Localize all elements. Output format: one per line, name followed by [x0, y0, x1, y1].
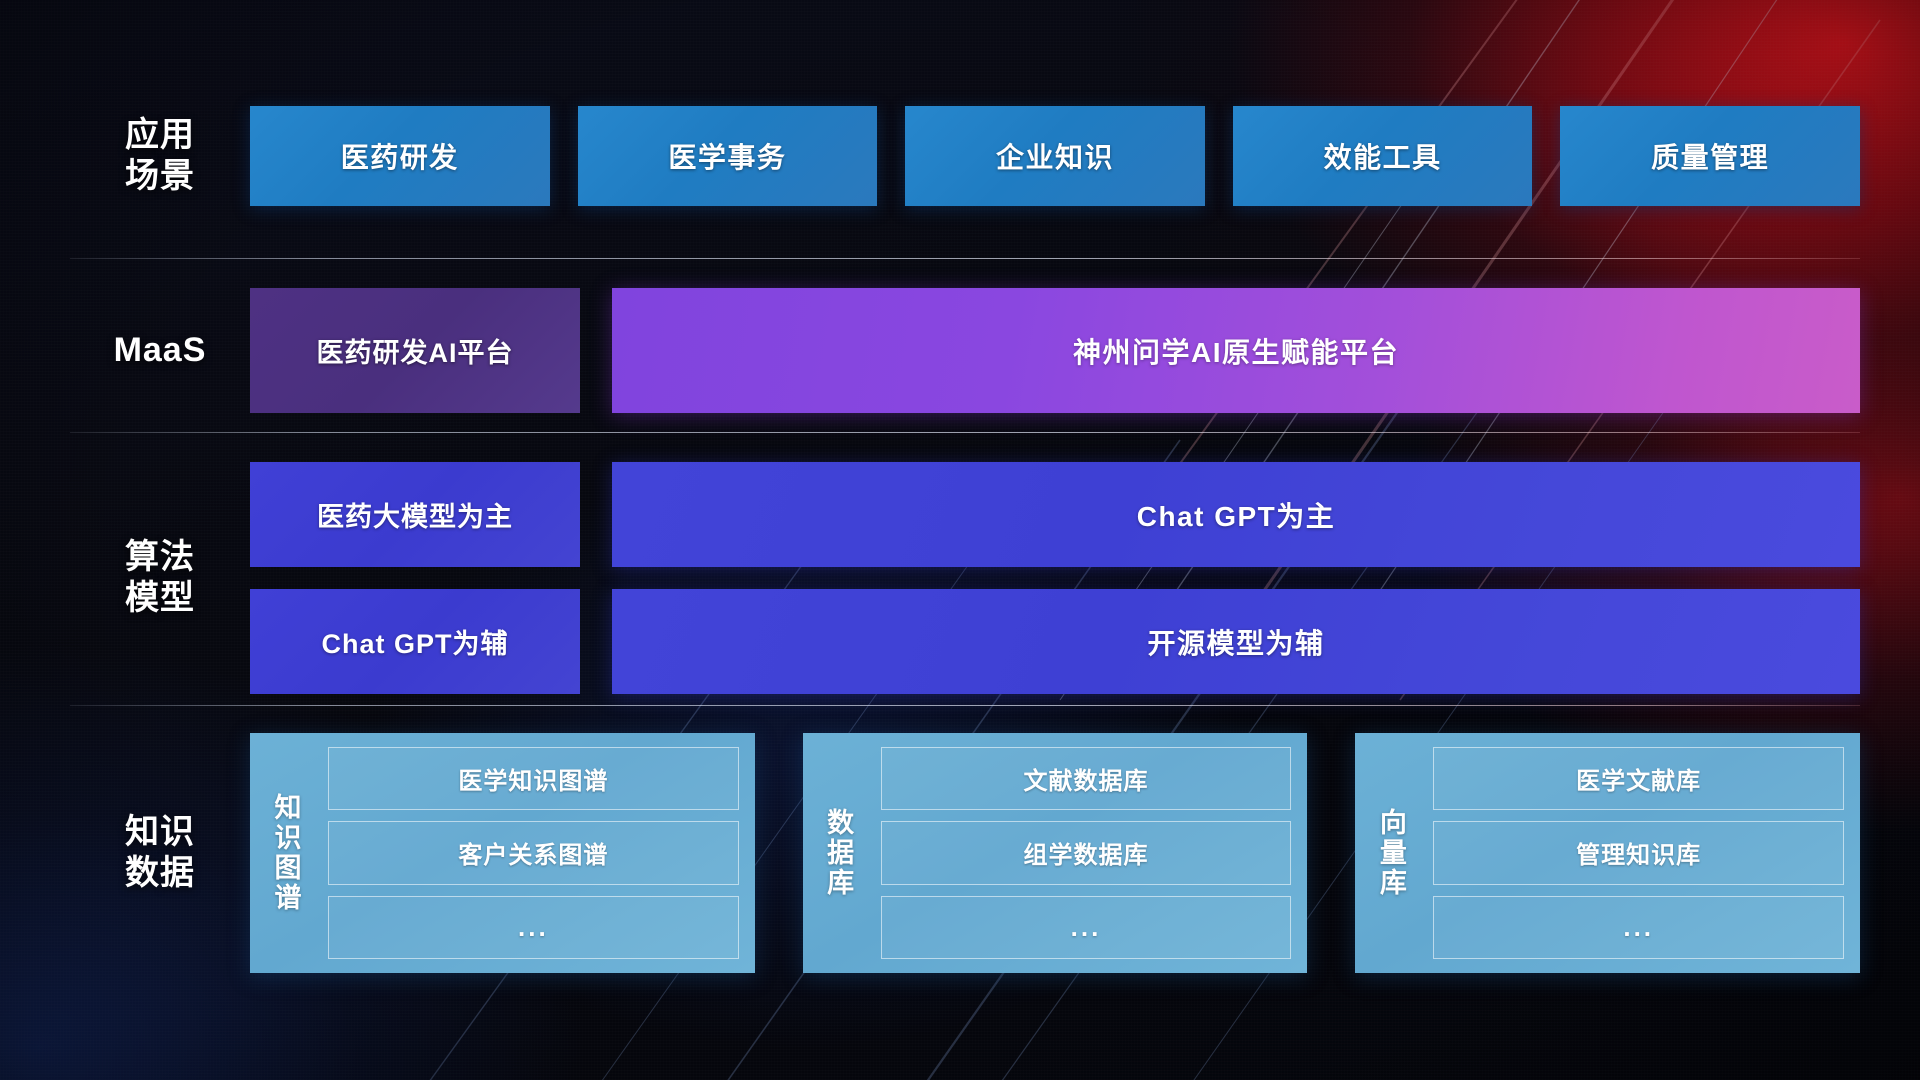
app-box-quality-management[interactable]: 质量管理 — [1560, 106, 1860, 206]
knowledge-item-omics-database[interactable]: 组学数据库 — [881, 821, 1292, 884]
knowledge-item-management-knowledge-store[interactable]: 管理知识库 — [1433, 821, 1844, 884]
tier-label-maas: MaaS — [70, 330, 250, 371]
algorithm-row-secondary: Chat GPT为辅 开源模型为辅 — [250, 589, 1860, 694]
divider-3 — [70, 705, 1860, 706]
knowledge-item-literature-database[interactable]: 文献数据库 — [881, 747, 1292, 810]
algorithm-model-boxes: 医药大模型为主 Chat GPT为主 Chat GPT为辅 开源模型为辅 — [250, 462, 1860, 694]
tier-label-knowledge-data: 知识 数据 — [70, 812, 250, 895]
tier-knowledge-data: 知识 数据 知识图谱 医学知识图谱 客户关系图谱 ... 数据库 文献数据库 组… — [70, 733, 1860, 973]
knowledge-item-medical-knowledge-graph[interactable]: 医学知识图谱 — [328, 747, 739, 810]
architecture-diagram: 应用 场景 医药研发 医学事务 企业知识 效能工具 质量管理 MaaS 医药研发… — [0, 0, 1920, 1080]
knowledge-panel-label-vector-store: 向量库 — [1367, 747, 1419, 959]
knowledge-item-more-knowledge-graph[interactable]: ... — [328, 896, 739, 959]
divider-2 — [70, 432, 1860, 433]
knowledge-items-knowledge-graph: 医学知识图谱 客户关系图谱 ... — [328, 747, 739, 959]
tier-algorithm-models: 算法 模型 医药大模型为主 Chat GPT为主 Chat GPT为辅 开源模型… — [70, 462, 1860, 694]
maas-boxes: 医药研发AI平台 神州问学AI原生赋能平台 — [250, 288, 1860, 413]
knowledge-item-medical-literature-store[interactable]: 医学文献库 — [1433, 747, 1844, 810]
knowledge-panels: 知识图谱 医学知识图谱 客户关系图谱 ... 数据库 文献数据库 组学数据库 .… — [250, 733, 1860, 973]
knowledge-panel-database: 数据库 文献数据库 组学数据库 ... — [803, 733, 1308, 973]
app-box-enterprise-knowledge[interactable]: 企业知识 — [905, 106, 1205, 206]
algo-box-opensource-model-secondary[interactable]: 开源模型为辅 — [612, 589, 1860, 694]
tier-label-application-scenarios: 应用 场景 — [70, 115, 250, 198]
tier-maas: MaaS 医药研发AI平台 神州问学AI原生赋能平台 — [70, 288, 1860, 413]
knowledge-item-more-database[interactable]: ... — [881, 896, 1292, 959]
knowledge-items-vector-store: 医学文献库 管理知识库 ... — [1433, 747, 1844, 959]
app-box-efficiency-tools[interactable]: 效能工具 — [1233, 106, 1533, 206]
knowledge-panel-vector-store: 向量库 医学文献库 管理知识库 ... — [1355, 733, 1860, 973]
algo-box-chatgpt-secondary[interactable]: Chat GPT为辅 — [250, 589, 580, 694]
divider-1 — [70, 258, 1860, 259]
knowledge-item-customer-relation-graph[interactable]: 客户关系图谱 — [328, 821, 739, 884]
knowledge-panel-label-database: 数据库 — [815, 747, 867, 959]
tier-label-algorithm-models: 算法 模型 — [70, 537, 250, 620]
algo-box-medicine-large-model-primary[interactable]: 医药大模型为主 — [250, 462, 580, 567]
application-scenario-boxes: 医药研发 医学事务 企业知识 效能工具 质量管理 — [250, 106, 1860, 206]
app-box-medicine-rd[interactable]: 医药研发 — [250, 106, 550, 206]
app-box-medical-affairs[interactable]: 医学事务 — [578, 106, 878, 206]
maas-box-medicine-ai-platform[interactable]: 医药研发AI平台 — [250, 288, 580, 413]
knowledge-item-more-vector-store[interactable]: ... — [1433, 896, 1844, 959]
maas-box-shenzhou-wenxue-platform[interactable]: 神州问学AI原生赋能平台 — [612, 288, 1860, 413]
tier-application-scenarios: 应用 场景 医药研发 医学事务 企业知识 效能工具 质量管理 — [70, 106, 1860, 206]
knowledge-panel-knowledge-graph: 知识图谱 医学知识图谱 客户关系图谱 ... — [250, 733, 755, 973]
knowledge-panel-label-knowledge-graph: 知识图谱 — [262, 747, 314, 959]
knowledge-items-database: 文献数据库 组学数据库 ... — [881, 747, 1292, 959]
algorithm-row-primary: 医药大模型为主 Chat GPT为主 — [250, 462, 1860, 567]
algo-box-chatgpt-primary[interactable]: Chat GPT为主 — [612, 462, 1860, 567]
